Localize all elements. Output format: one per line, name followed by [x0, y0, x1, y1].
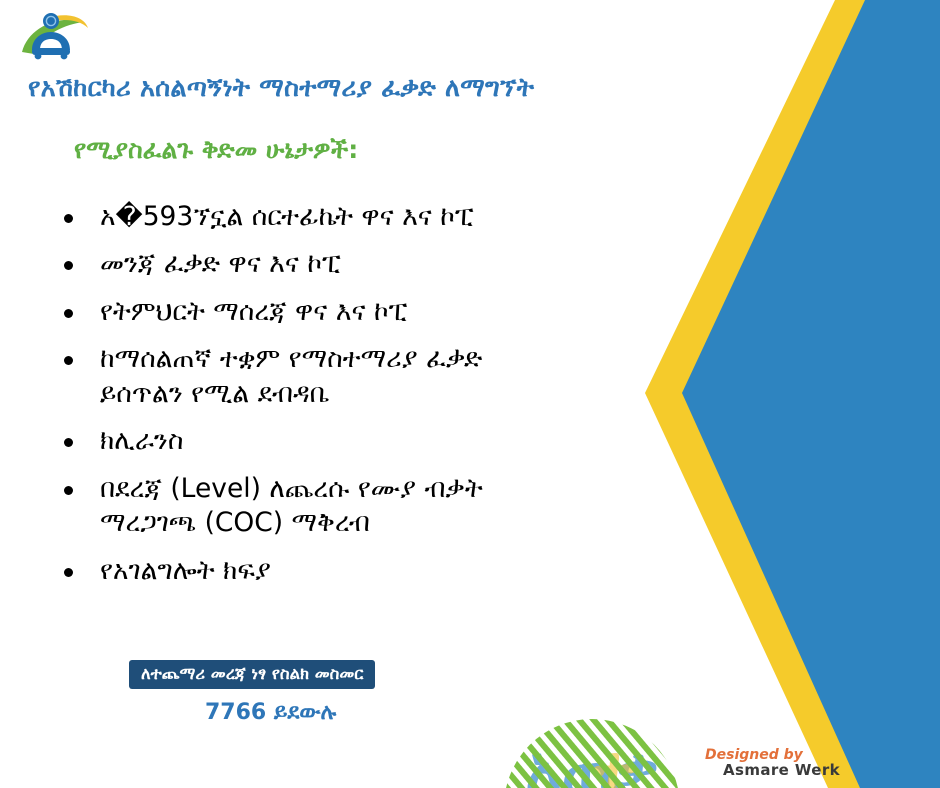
list-item-line1: የትምህርት ማሰረጃ ዋና እና ኮፒ — [100, 296, 407, 327]
list-item-line1: ከማሰልጠኛ ተቋም የማስተማሪያ ፈቃድ — [100, 343, 482, 374]
hotline-badge: ለተጨማሪ መረጃ ነፃ የስልክ መስመር — [129, 660, 375, 689]
bullet-dot-icon — [64, 486, 73, 495]
requirements-list: አ�593ኘኗል ሰርተፊኬት ዋና እና ኮፒ መንጃ ፈቃድ ዋና እና ኮ… — [56, 200, 636, 601]
page-title: የአሽከርካሪ አሰልጣኝነት ማስተማሪያ ፈቃድ ለማግኘት — [28, 74, 728, 103]
list-item: ከማሰልጠኛ ተቋም የማስተማሪያ ፈቃድ ይሰጥልን የሚል ደብዳቤ — [56, 342, 636, 411]
bullet-dot-icon — [64, 261, 73, 270]
list-item-line2: ይሰጥልን የሚል ደብዳቤ — [100, 377, 636, 411]
organization-logo-icon — [18, 8, 92, 64]
list-item: አ�593ኘኗል ሰርተፊኬት ዋና እና ኮፒ — [56, 200, 636, 234]
list-item: የአገልግሎት ክፍያ — [56, 554, 636, 588]
list-item-line1: አ�593ኘኗል ሰርተፊኬት ዋና እና ኮፒ — [100, 201, 474, 232]
list-item-line1: የአገልግሎት ክፍያ — [100, 555, 271, 586]
bullet-dot-icon — [64, 568, 73, 577]
page-subtitle: የሚያስፈልጉ ቅድመ ሁኔታዎች: — [74, 136, 358, 165]
list-item: ክሊራንስ — [56, 424, 636, 458]
credit-line-2: Asmare Werk — [723, 763, 840, 779]
list-item: መንጃ ፈቃድ ዋና እና ኮፒ — [56, 247, 636, 281]
chevron-decoration — [620, 0, 940, 788]
list-item: በደረጃ (Level) ለጨረሱ የሙያ ብቃት ማረጋገጫ (COC) ማቅ… — [56, 472, 636, 541]
svg-text:አጠቃ: አጠቃ — [525, 732, 658, 788]
chevron-yellow-shape — [645, 0, 940, 788]
hotline-number: 7766 ይደውሉ — [205, 700, 336, 725]
chevron-blue-shape — [682, 0, 940, 788]
poster-canvas: የአሽከርካሪ አሰልጣኝነት ማስተማሪያ ፈቃድ ለማግኘት የሚያስፈልጉ… — [0, 0, 940, 788]
list-item-line1: ክሊራንስ — [100, 425, 183, 456]
svg-text:ተ: ተ — [592, 732, 636, 788]
list-item-line2: ማረጋገጫ (COC) ማቅረብ — [100, 506, 636, 540]
designer-credit: Designed by Asmare Werk — [705, 748, 840, 778]
list-item: የትምህርት ማሰረጃ ዋና እና ኮፒ — [56, 295, 636, 329]
bullet-dot-icon — [64, 438, 73, 447]
striped-circle-watermark-icon: አጠቃ ተ — [497, 712, 687, 788]
bullet-dot-icon — [64, 356, 73, 365]
list-item-line1: በደረጃ (Level) ለጨረሱ የሙያ ብቃት — [100, 473, 483, 504]
bullet-dot-icon — [64, 214, 73, 223]
list-item-line1: መንጃ ፈቃድ ዋና እና ኮፒ — [100, 248, 341, 279]
bullet-dot-icon — [64, 309, 73, 318]
